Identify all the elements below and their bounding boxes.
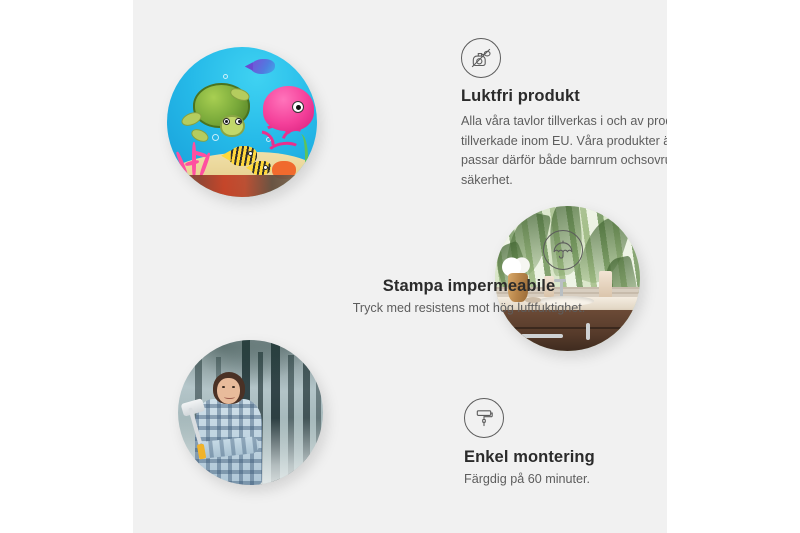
blue-fish-illustration (251, 59, 275, 74)
paint-roller-icon (464, 398, 504, 438)
coral-illustration (173, 133, 218, 178)
yellow-fish-illustration (251, 161, 271, 175)
feature-easy-mounting: Enkel montering Färgdig på 60 minuter. (464, 398, 667, 490)
octopus-illustration (263, 86, 314, 131)
feature-title: Luktfri produkt (461, 87, 667, 106)
turtle-eye (223, 118, 230, 125)
tree-canopy (178, 340, 323, 398)
cabinet-handle (586, 323, 590, 340)
woman-face (217, 378, 240, 404)
bubble-icon (223, 74, 228, 79)
screenshot-root: Luktfri produkt Alla våra tavlor tillver… (0, 0, 800, 533)
feature-description: Alla våra tavlor tillverkas i och av pro… (461, 112, 667, 190)
woman-paint-roller-forest-photo (178, 340, 323, 485)
feature-title: Enkel montering (464, 448, 667, 467)
underwater-cartoon-photo (167, 47, 317, 197)
feature-title: Stampa impermeabile (345, 277, 593, 296)
no-fragrance-icon (461, 38, 501, 78)
feature-description: Färgdig på 60 minuter. (464, 470, 667, 490)
feature-description: Tryck med resistens mot hög luftfuktighe… (345, 299, 593, 319)
cabinet-handle (521, 334, 564, 338)
umbrella-icon (543, 230, 583, 270)
feature-waterproof: Stampa impermeabile Tryck med resistens … (345, 230, 593, 319)
feature-odourless: Luktfri produkt Alla våra tavlor tillver… (461, 38, 667, 190)
octopus-eye (292, 101, 304, 113)
turtle-eye (235, 118, 242, 125)
content-panel: Luktfri produkt Alla våra tavlor tillver… (133, 0, 667, 533)
photo-bottom-strip (167, 175, 317, 198)
toiletry-bottle (599, 271, 612, 299)
